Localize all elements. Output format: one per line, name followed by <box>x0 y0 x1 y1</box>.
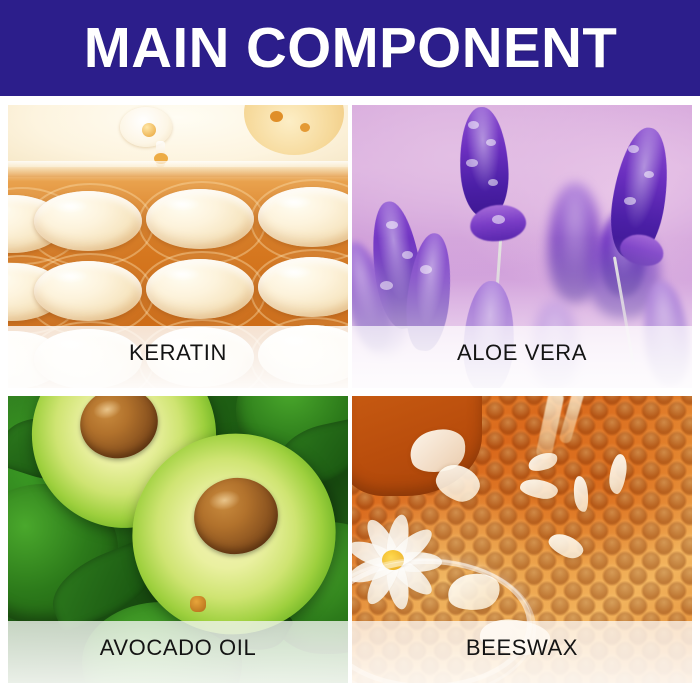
lavender-floret <box>386 221 398 229</box>
lavender-floret <box>466 159 478 167</box>
ingredient-card-avocado-oil[interactable]: AVOCADO OIL <box>8 396 348 683</box>
ingredient-label-avocado-oil: AVOCADO OIL <box>100 637 257 659</box>
ingredient-card-keratin[interactable]: KERATIN <box>8 105 348 388</box>
ingredient-label-beeswax: BEESWAX <box>466 637 578 659</box>
beeswax-caption: BEESWAX <box>352 621 692 683</box>
keratin-capsule <box>34 191 142 251</box>
keratin-top-capsule-dot <box>142 123 156 137</box>
ingredient-label-keratin: KERATIN <box>129 342 227 364</box>
lavender-floret <box>486 139 496 146</box>
keratin-caption: KERATIN <box>8 326 348 388</box>
lavender-floret <box>488 179 498 186</box>
avocado-oil-caption: AVOCADO OIL <box>8 621 348 683</box>
lavender-floret <box>644 171 654 178</box>
header-banner: MAIN COMPONENT <box>0 0 700 96</box>
keratin-top-circle-dot <box>270 111 283 122</box>
ingredient-label-aloe-vera: ALOE VERA <box>457 342 587 364</box>
lavender-floret <box>468 121 479 129</box>
lavender-floret <box>628 145 639 153</box>
avocado-stem-nub <box>190 596 206 612</box>
ingredient-card-aloe-vera[interactable]: ALOE VERA <box>352 105 692 388</box>
lavender-floret <box>624 197 636 205</box>
keratin-capsule <box>146 259 254 319</box>
ingredient-card-beeswax[interactable]: BEESWAX <box>352 396 692 683</box>
keratin-top-circle-dot <box>300 123 310 132</box>
keratin-capsule <box>34 261 142 321</box>
page-title: MAIN COMPONENT <box>83 20 617 77</box>
lavender-floret <box>492 215 505 224</box>
main-component-poster: MAIN COMPONENT <box>0 0 700 700</box>
keratin-tray-ridge <box>8 161 348 177</box>
keratin-capsule <box>146 189 254 249</box>
ingredient-grid: KERATIN <box>8 105 692 683</box>
aloe-vera-caption: ALOE VERA <box>352 326 692 388</box>
